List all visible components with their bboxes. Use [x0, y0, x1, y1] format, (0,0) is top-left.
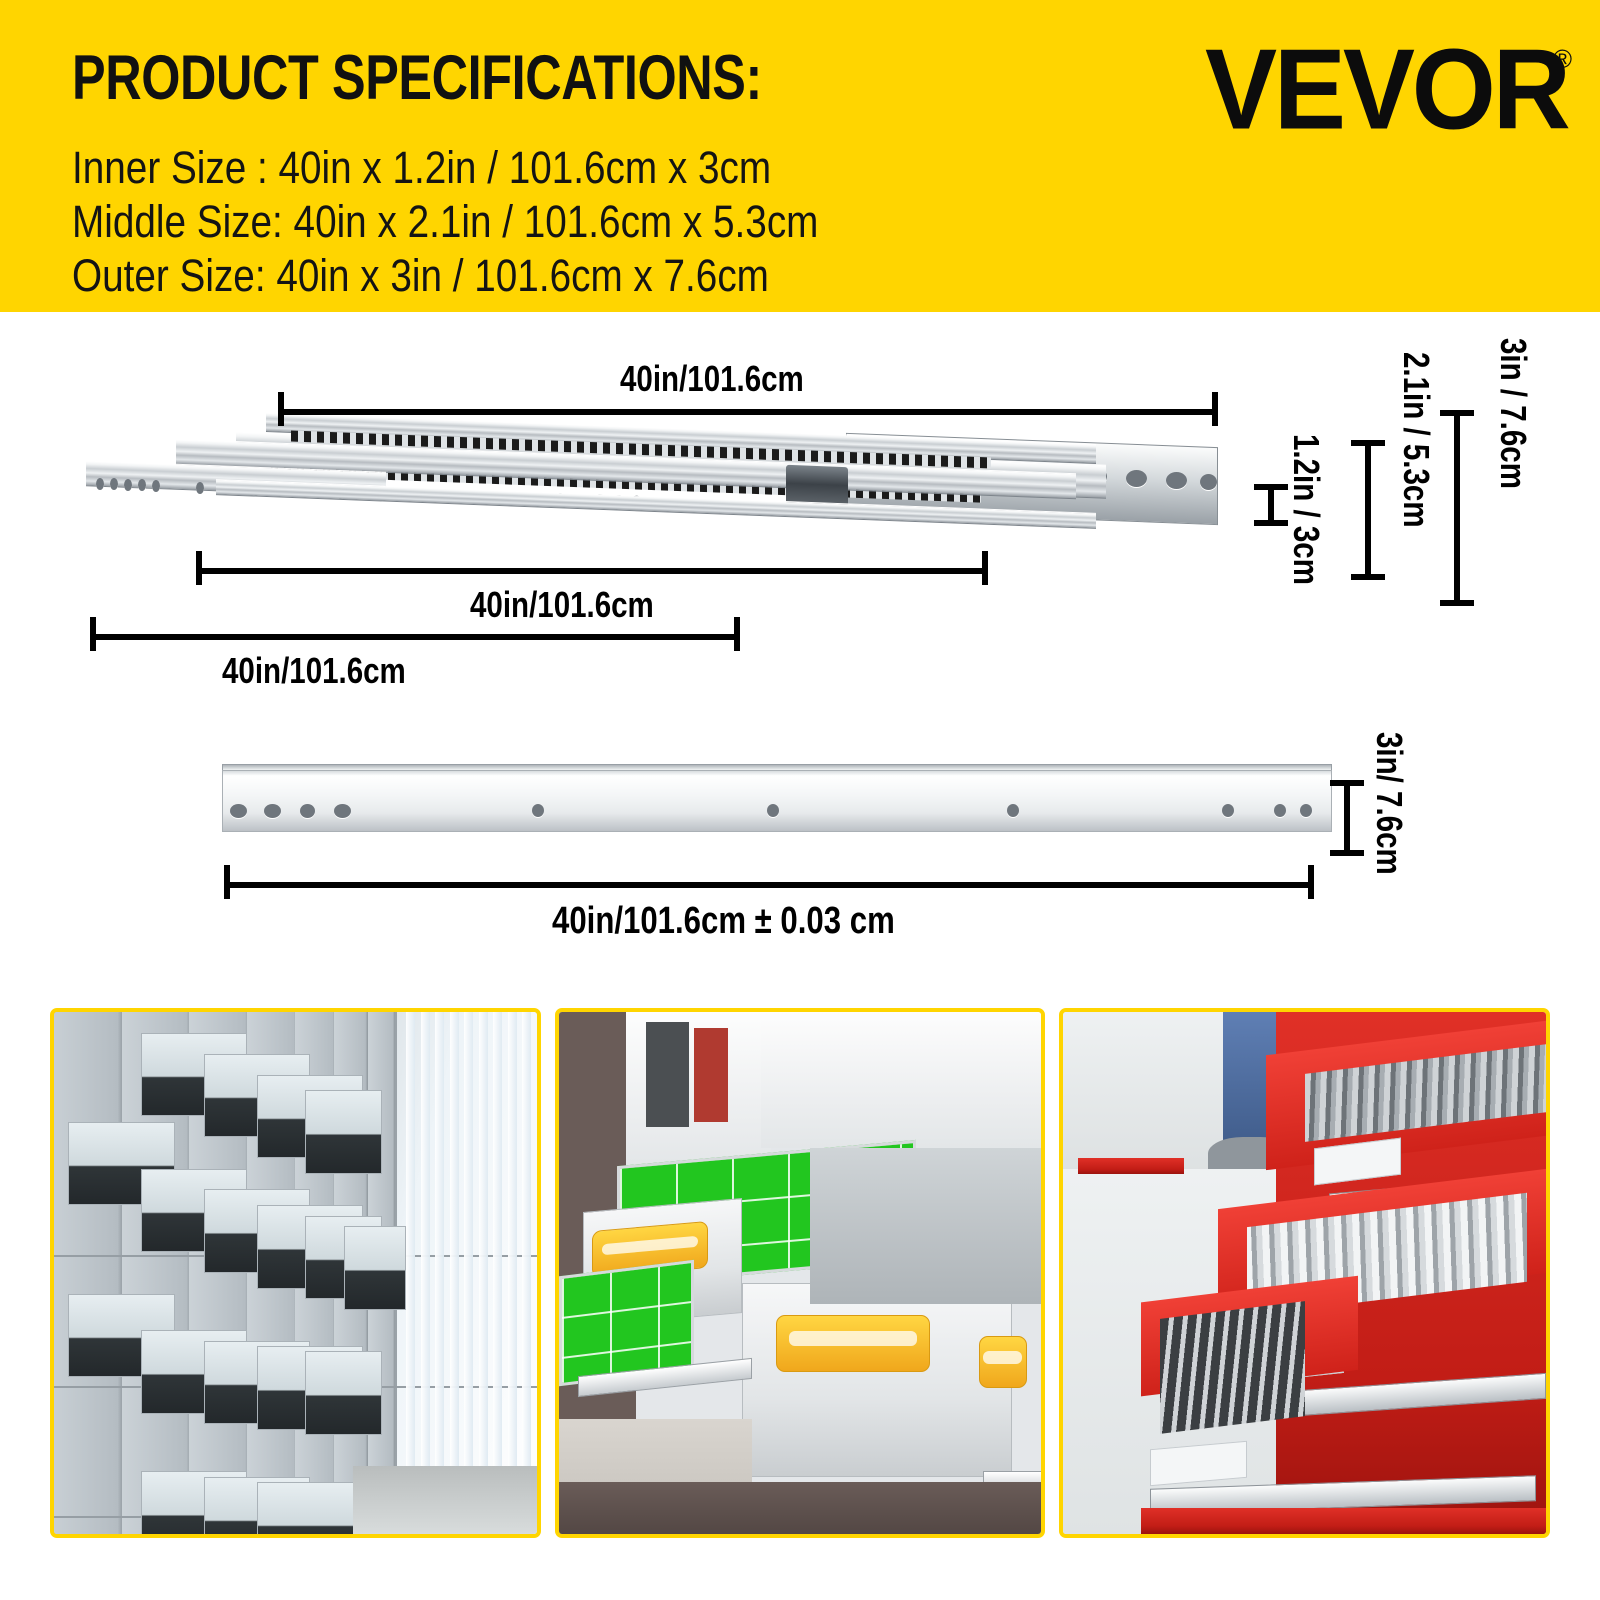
dimension-endcap: [1254, 484, 1288, 490]
dimension-endcap: [1440, 600, 1474, 606]
dimension-label-assembly-top: 40in/101.6cm: [620, 358, 804, 400]
technical-dimension-diagram: 40in/101.6cm 40in/101.6cm 40in/101.6cm 1…: [0, 312, 1600, 1002]
dimension-line-outer-height: [1454, 410, 1460, 606]
mount-hole-icon: [96, 478, 104, 490]
dimension-label-inner-height: 1.2in / 3cm: [1285, 434, 1327, 585]
dimension-endcap: [224, 865, 230, 899]
telescoping-slide-assembly-image: [86, 422, 1216, 552]
mount-hole-icon: [110, 478, 118, 490]
dimension-endcap: [1212, 392, 1218, 426]
page-title: PRODUCT SPECIFICATIONS:: [72, 42, 762, 114]
rail-body: [222, 770, 1332, 832]
photo-panel-filing-cabinets: [50, 1008, 541, 1538]
dimension-endcap: [1351, 440, 1385, 446]
spec-line-middle-size: Middle Size: 40in x 2.1in / 101.6cm x 5.…: [72, 196, 818, 248]
dimension-line-assembly-top: [278, 409, 1218, 415]
mount-hole-icon: [1200, 474, 1217, 490]
dimension-line-assembly-middle: [196, 568, 988, 574]
application-photo-gallery: [50, 1008, 1550, 1538]
photo-panel-industrial-drawers: [555, 1008, 1046, 1538]
red-tool-chest-photo: [1063, 1012, 1546, 1534]
mount-hole-icon: [124, 479, 132, 491]
dimension-line-assembly-bottom: [90, 634, 740, 640]
vevor-wordmark: VEVOR: [1205, 38, 1568, 143]
dimension-endcap: [278, 392, 284, 426]
mount-hole-icon: [138, 479, 146, 491]
dimension-line-rail-height: [1344, 780, 1350, 856]
mount-hole-icon: [264, 804, 281, 818]
mount-hole-icon: [767, 804, 779, 817]
dimension-endcap: [1308, 865, 1314, 899]
dimension-label-outer-height: 3in / 7.6cm: [1492, 338, 1534, 489]
dimension-endcap: [196, 551, 202, 585]
mount-hole-icon: [196, 482, 204, 494]
mount-hole-icon: [300, 804, 315, 818]
spec-line-outer-size: Outer Size: 40in x 3in / 101.6cm x 7.6cm: [72, 250, 769, 302]
mount-hole-icon: [1222, 804, 1234, 817]
mount-hole-icon: [334, 804, 351, 818]
dimension-endcap: [1330, 850, 1364, 856]
filing-cabinet-photo: [54, 1012, 537, 1534]
dimension-endcap: [1254, 520, 1288, 526]
dimension-label-assembly-bottom: 40in/101.6cm: [222, 650, 406, 692]
photo-panel-tool-chest: [1059, 1008, 1550, 1538]
dimension-label-rail-height: 3in/ 7.6cm: [1368, 732, 1410, 875]
spec-header-banner: PRODUCT SPECIFICATIONS: Inner Size : 40i…: [0, 0, 1600, 312]
mount-hole-icon: [1274, 804, 1286, 817]
vevor-logo: VEVOR ®: [1205, 38, 1572, 132]
dimension-endcap: [734, 617, 740, 651]
dimension-line-middle-height: [1365, 440, 1371, 580]
dimension-endcap: [1330, 780, 1364, 786]
mount-hole-icon: [1126, 470, 1147, 487]
mount-hole-icon: [1007, 804, 1019, 817]
mount-hole-icon: [1166, 472, 1187, 489]
spec-line-inner-size: Inner Size : 40in x 1.2in / 101.6cm x 3c…: [72, 142, 771, 194]
dimension-endcap: [982, 551, 988, 585]
dimension-label-middle-height: 2.1in / 5.3cm: [1395, 352, 1437, 528]
mount-hole-icon: [152, 480, 160, 492]
dimension-line-rail-length: [224, 882, 1314, 888]
industrial-drawer-photo: [559, 1012, 1042, 1534]
dimension-endcap: [90, 617, 96, 651]
mount-hole-icon: [230, 804, 247, 818]
single-rail-image: [222, 760, 1332, 840]
mount-hole-icon: [532, 804, 544, 817]
dimension-endcap: [1351, 574, 1385, 580]
dimension-label-assembly-middle: 40in/101.6cm: [470, 584, 654, 626]
dimension-endcap: [1440, 410, 1474, 416]
mount-hole-icon: [1300, 804, 1312, 817]
dimension-label-rail-length: 40in/101.6cm ± 0.03 cm: [552, 900, 895, 943]
